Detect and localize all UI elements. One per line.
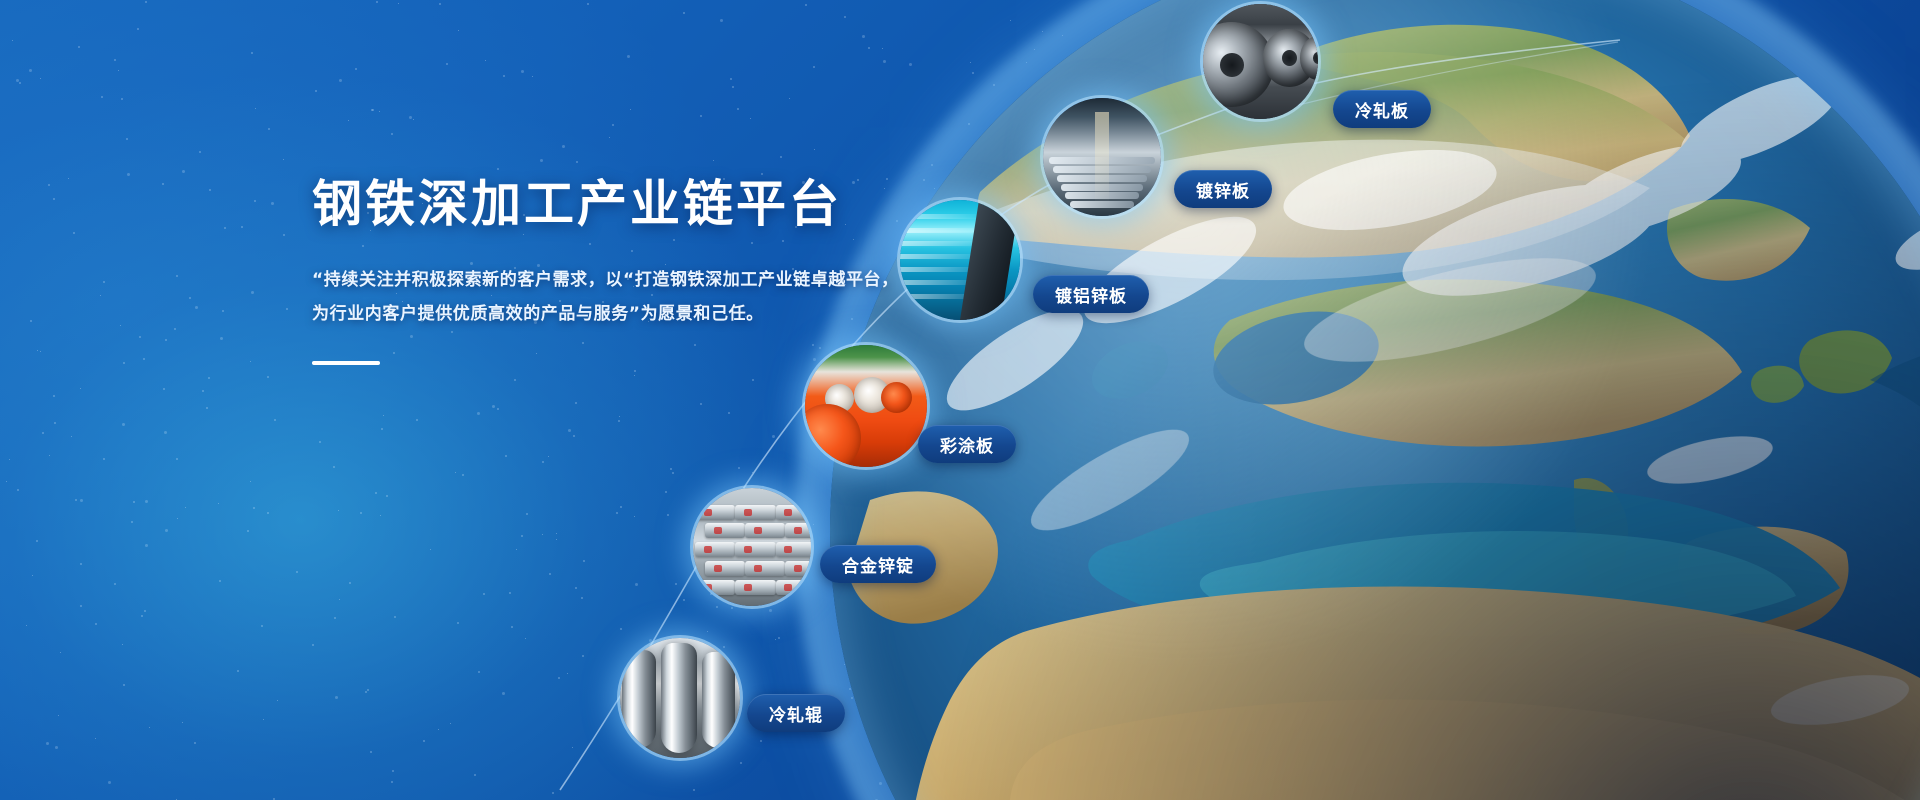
page-title: 钢铁深加工产业链平台 [312, 176, 1032, 233]
product-label-2[interactable]: 镀锌板 [1174, 170, 1272, 208]
banner-copy: 钢铁深加工产业链平台 “持续关注并积极探索新的客户需求，以“打造钢铁深加工产业链… [312, 176, 1032, 365]
subtitle-line-2: 为行业内客户提供优质高效的产品与服务”为愿景和己任。 [312, 297, 1032, 331]
cold-rolling-roller-photo[interactable] [620, 638, 740, 758]
product-label-1[interactable]: 冷轧板 [1333, 90, 1431, 128]
product-label-5[interactable]: 合金锌锭 [820, 545, 936, 583]
zinc-alloy-ingot-photo[interactable] [693, 488, 811, 606]
cold-rolled-coil-photo[interactable] [1203, 4, 1318, 119]
product-label-4[interactable]: 彩涂板 [918, 425, 1016, 463]
subtitle-line-1: “持续关注并积极探索新的客户需求，以“打造钢铁深加工产业链卓越平台， [312, 270, 899, 290]
hero-banner: 冷轧板镀锌板镀铝锌板彩涂板合金锌锭冷轧辊 钢铁深加工产业链平台 “持续关注并积极… [0, 0, 1920, 800]
product-label-6[interactable]: 冷轧辊 [747, 694, 845, 732]
decorative-divider [312, 361, 380, 365]
product-label-3[interactable]: 镀铝锌板 [1033, 275, 1149, 313]
galvanized-coil-warehouse-photo[interactable] [1043, 98, 1161, 216]
banner-subtitle: “持续关注并积极探索新的客户需求，以“打造钢铁深加工产业链卓越平台， 为行业内客… [312, 263, 1032, 331]
